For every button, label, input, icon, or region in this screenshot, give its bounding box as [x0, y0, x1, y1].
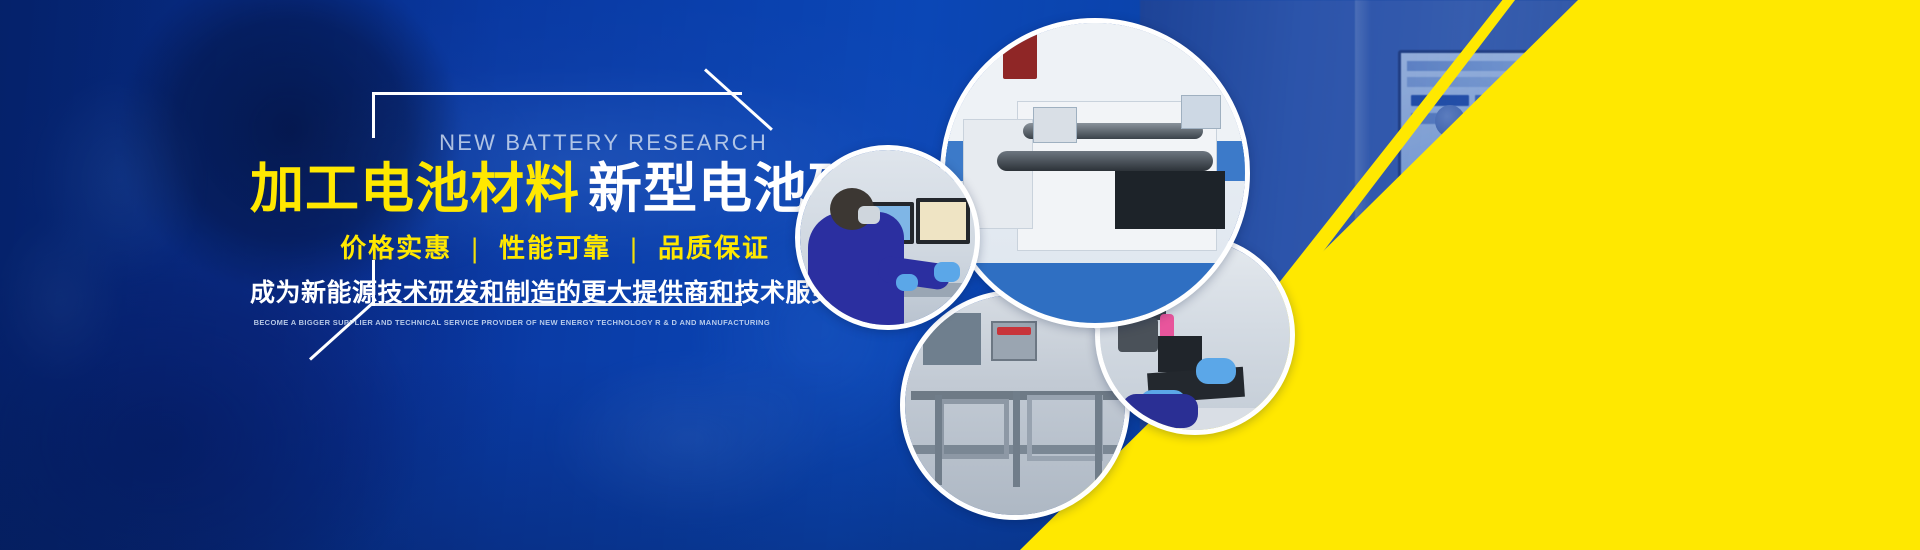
headline-primary: 加工电池材料	[250, 157, 580, 220]
feature-separator-1: |	[470, 234, 481, 264]
feature-list: 价格实惠 | 性能可靠 | 品质保证	[250, 228, 770, 265]
banner-tagline: 成为新能源技术研发和制造的更大提供商和技术服务商	[250, 273, 770, 309]
hero-banner: NEW BATTERY RESEARCH 加工电池材料新型电池研究 价格实惠 |…	[0, 0, 1920, 550]
feature-item-1: 价格实惠	[340, 234, 452, 264]
photo-circle-engineer-workstation	[795, 145, 980, 330]
banner-copy: NEW BATTERY RESEARCH 加工电池材料新型电池研究 价格实惠 |…	[250, 132, 770, 327]
photo-circle-coating-machine	[940, 18, 1250, 328]
feature-item-3: 品质保证	[658, 234, 770, 264]
banner-headline: 加工电池材料新型电池研究	[250, 160, 770, 218]
banner-micro-tagline: BECOME A BIGGER SUPPLIER AND TECHNICAL S…	[250, 318, 770, 327]
feature-separator-2: |	[629, 234, 640, 264]
banner-eyebrow: NEW BATTERY RESEARCH	[250, 132, 770, 154]
frame-top-edge	[372, 92, 742, 95]
feature-item-2: 性能可靠	[499, 234, 611, 264]
